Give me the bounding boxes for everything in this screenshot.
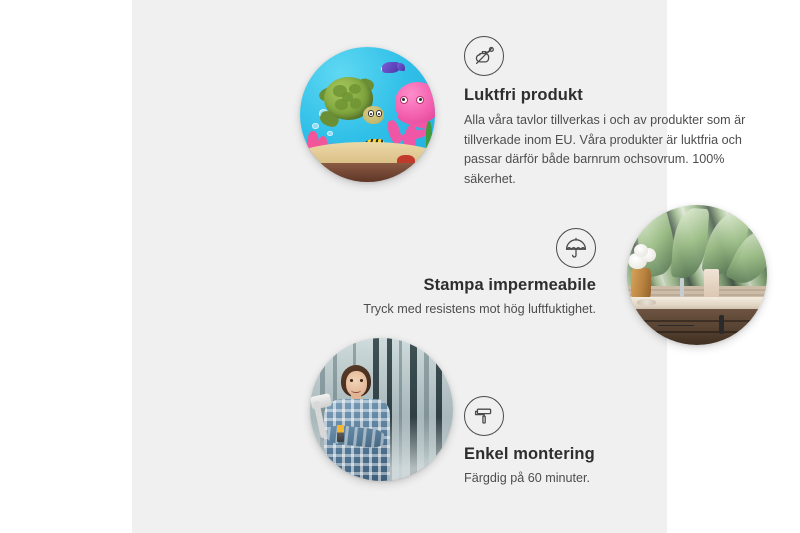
no-odor-spray-bottle-icon xyxy=(464,36,504,76)
woman-painter-forest-photo xyxy=(310,338,453,481)
woman-eye xyxy=(360,379,363,381)
drawer-handle xyxy=(658,325,694,326)
feature-waterproof: Stampa impermeabile Tryck med resistens … xyxy=(354,228,596,320)
feature-description: Tryck med resistens mot hög luftfuktighe… xyxy=(354,300,596,320)
octopus-eye xyxy=(416,96,424,104)
feature-description: Färgdig på 60 minuter. xyxy=(464,469,714,489)
icon-wrapper xyxy=(354,228,596,268)
paint-roller-icon xyxy=(464,396,504,436)
infographic-stage: Luktfri produkt Alla våra tavlor tillver… xyxy=(0,0,800,533)
cabinet-handle xyxy=(719,315,724,334)
feature-odorless: Luktfri produkt Alla våra tavlor tillver… xyxy=(464,36,764,190)
paint-brush xyxy=(337,425,344,442)
content-panel: Luktfri produkt Alla våra tavlor tillver… xyxy=(132,0,667,533)
feature-title: Stampa impermeabile xyxy=(354,275,596,296)
feature-description: Alla våra tavlor tillverkas i och av pro… xyxy=(464,111,764,191)
bathroom-botanical-wallpaper-photo xyxy=(627,205,767,345)
bubble-icon xyxy=(312,123,319,130)
ocean-floor-shadow xyxy=(300,163,435,182)
wood-vanity-cabinet xyxy=(633,309,767,345)
woman-face xyxy=(346,371,367,397)
octopus-eye xyxy=(400,96,408,104)
woman-smile xyxy=(351,387,361,392)
drawer-divider xyxy=(633,320,767,322)
rolled-towel xyxy=(704,269,719,300)
woman-eye xyxy=(350,379,353,381)
white-flower xyxy=(634,244,648,257)
faucet-icon xyxy=(680,278,684,298)
turtle-eye xyxy=(376,110,382,116)
seaweed-icon xyxy=(426,121,433,151)
umbrella-icon xyxy=(556,228,596,268)
purple-fish-tail xyxy=(397,63,405,71)
drawer-divider xyxy=(633,331,767,333)
feature-title: Enkel montering xyxy=(464,444,714,465)
feature-assembly: Enkel montering Färgdig på 60 minuter. xyxy=(464,396,714,489)
soap-dish xyxy=(637,299,657,306)
bubble-icon xyxy=(327,131,333,137)
turtle-eye xyxy=(368,110,374,116)
feature-title: Luktfri produkt xyxy=(464,85,764,106)
underwater-kids-scene-photo xyxy=(300,47,435,182)
